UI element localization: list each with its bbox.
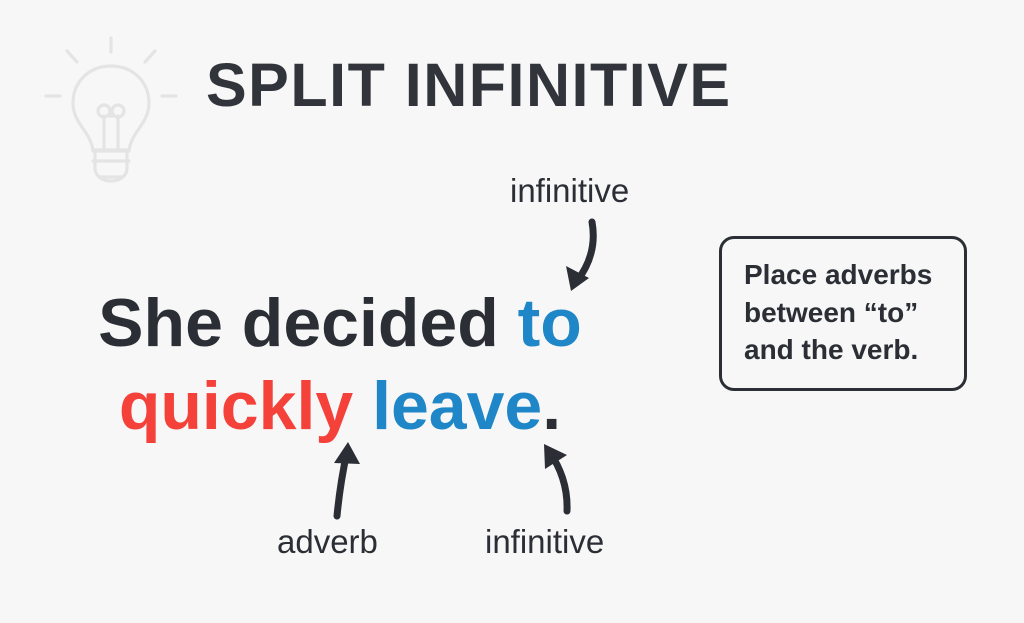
lightbulb-icon <box>36 34 186 189</box>
sentence-space <box>353 368 372 444</box>
annotation-adverb: adverb <box>277 525 378 558</box>
annotation-infinitive-top: infinitive <box>510 174 629 207</box>
sentence-word-adverb: quickly <box>119 368 353 444</box>
tip-callout-box: Place adverbs between “to” and the verb. <box>719 236 967 391</box>
infographic-canvas: SPLIT INFINITIVE infinitive She decided … <box>0 0 1024 623</box>
curved-arrow-up-icon <box>544 444 567 511</box>
example-sentence: She decided to quickly leave. <box>0 282 680 448</box>
curved-arrow-down-icon <box>566 222 593 291</box>
tip-callout-text: Place adverbs between “to” and the verb. <box>744 256 944 369</box>
annotation-infinitive-bottom: infinitive <box>485 525 604 558</box>
sentence-line-1: She decided to <box>0 282 680 365</box>
sentence-word-verb: leave <box>372 368 542 444</box>
sentence-word-to: to <box>518 285 582 361</box>
sentence-period: . <box>542 368 561 444</box>
sentence-subject-verb: She decided <box>98 285 517 361</box>
page-title: SPLIT INFINITIVE <box>206 55 732 116</box>
sentence-line-2: quickly leave. <box>0 365 680 448</box>
arrow-up-icon <box>334 442 360 516</box>
